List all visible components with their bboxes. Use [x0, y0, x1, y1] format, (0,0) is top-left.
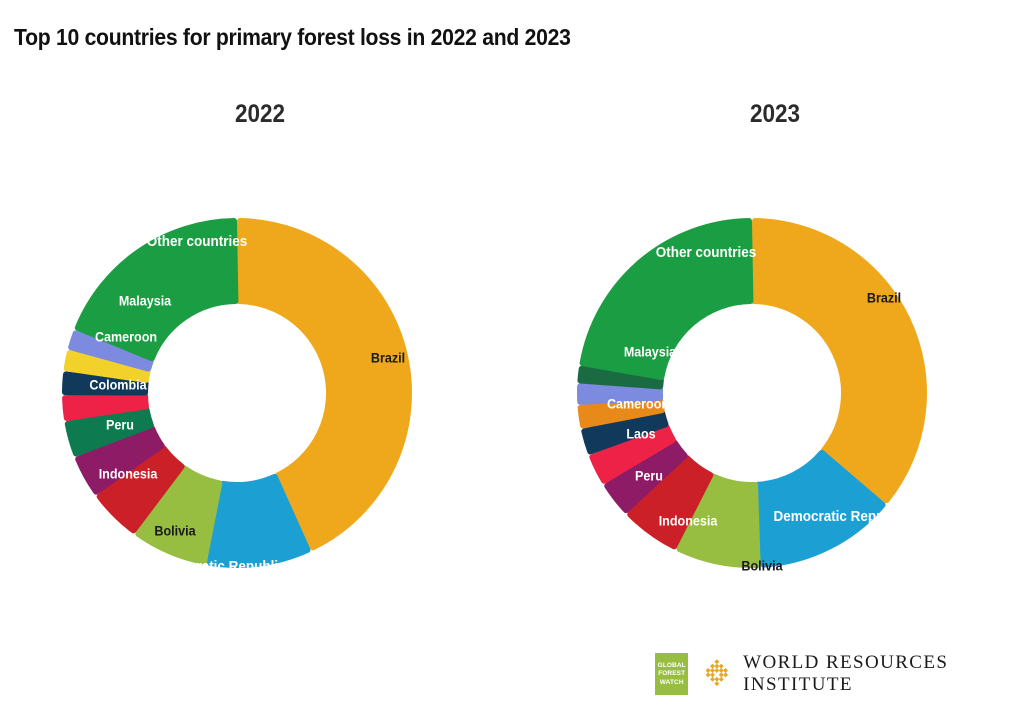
donut-svg-2022 — [25, 138, 495, 658]
pie-slice[interactable] — [583, 221, 751, 377]
pie-slice[interactable] — [78, 221, 236, 358]
world-resources-institute-logo: WORLD RESOURCES INSTITUTE — [702, 652, 1024, 696]
page-title: Top 10 countries for primary forest loss… — [14, 24, 571, 51]
wri-diamond-icon — [702, 657, 732, 691]
chart-title-2023: 2023 — [564, 100, 987, 129]
donut-chart-2023: BrazilDemocratic Republic of the CongoBo… — [540, 138, 1010, 658]
chart-panel-2022: 2022 BrazilDemocratic Republic of the Co… — [25, 100, 495, 660]
pie-slice[interactable] — [754, 221, 924, 500]
wri-wordmark: WORLD RESOURCES INSTITUTE — [743, 652, 1024, 696]
gfw-line-1: GLOBAL — [658, 662, 686, 669]
donut-svg-2023 — [540, 138, 1010, 658]
pie-slice[interactable] — [580, 386, 660, 402]
chart-panel-2023: 2023 BrazilDemocratic Republic of the Co… — [540, 100, 1010, 660]
global-forest-watch-logo: GLOBAL FOREST WATCH — [655, 653, 688, 695]
donut-chart-2022: BrazilDemocratic Republic of the CongoBo… — [25, 138, 495, 658]
footer-logos: GLOBAL FOREST WATCH — [655, 652, 1024, 696]
chart-title-2022: 2022 — [49, 100, 472, 129]
gfw-line-2: FOREST — [658, 670, 685, 677]
gfw-line-3: WATCH — [660, 679, 684, 686]
